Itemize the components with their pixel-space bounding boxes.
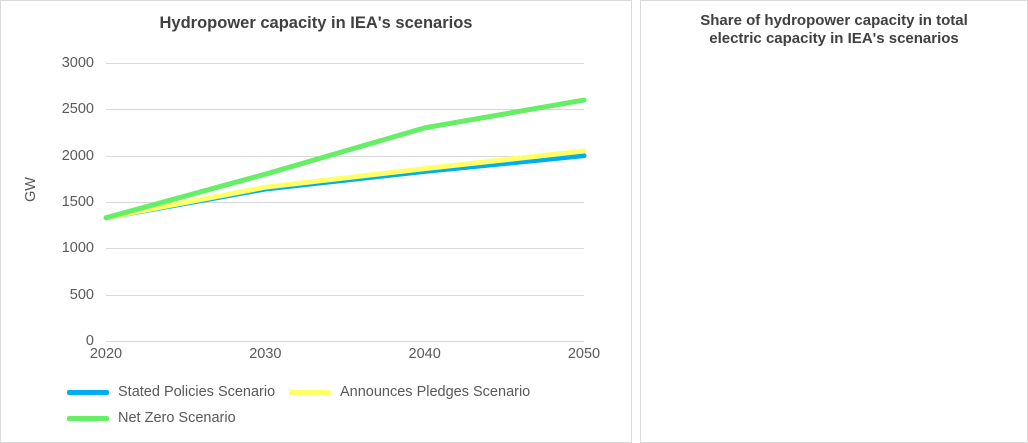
y-axis-title-gw: GW bbox=[23, 177, 39, 202]
legend-row: Stated Policies ScenarioAnnounces Pledge… bbox=[67, 379, 607, 405]
y-axis-tick-label: 500 bbox=[70, 287, 94, 303]
legend-item[interactable]: Stated Policies Scenario bbox=[67, 384, 289, 400]
left-chart-legend: Stated Policies ScenarioAnnounces Pledge… bbox=[67, 379, 607, 431]
legend-item[interactable]: Announces Pledges Scenario bbox=[289, 384, 530, 400]
panel-divider bbox=[632, 0, 640, 443]
legend-line-swatch bbox=[67, 390, 109, 395]
left-chart-title: Hydropower capacity in IEA's scenarios bbox=[1, 14, 631, 33]
y-axis-tick-label: 2500 bbox=[62, 101, 94, 117]
y-axis-tick-label: 3000 bbox=[62, 55, 94, 71]
line-series-stated-policies-scenario bbox=[106, 156, 584, 218]
legend-line-swatch bbox=[67, 416, 109, 421]
legend-item-label: Stated Policies Scenario bbox=[118, 384, 275, 400]
legend-item-label: Announces Pledges Scenario bbox=[340, 384, 530, 400]
gridline bbox=[106, 341, 584, 342]
legend-row: Net Zero Scenario bbox=[67, 405, 607, 431]
x-axis-tick-labels: 2020203020402050 bbox=[106, 346, 584, 366]
line-series-announces-pledges-scenario bbox=[106, 151, 584, 218]
hydropower-share-chart-panel: Share of hydropower capacity in total el… bbox=[640, 0, 1028, 443]
x-axis-tick-label: 2030 bbox=[249, 346, 281, 362]
legend-line-swatch bbox=[289, 390, 331, 395]
y-axis-tick-label: 1500 bbox=[62, 194, 94, 210]
x-axis-tick-label: 2040 bbox=[409, 346, 441, 362]
right-chart-title: Share of hydropower capacity in total el… bbox=[641, 12, 1027, 47]
x-axis-tick-label: 2020 bbox=[90, 346, 122, 362]
x-axis-tick-label: 2050 bbox=[568, 346, 600, 362]
y-axis-tick-label: 1000 bbox=[62, 240, 94, 256]
chart-pair-figure: Hydropower capacity in IEA's scenarios G… bbox=[0, 0, 1028, 443]
line-series-group bbox=[106, 63, 584, 341]
line-plot-area: 050010001500200025003000 bbox=[106, 63, 584, 341]
legend-item[interactable]: Net Zero Scenario bbox=[67, 410, 236, 426]
hydropower-capacity-chart-panel: Hydropower capacity in IEA's scenarios G… bbox=[0, 0, 632, 443]
legend-item-label: Net Zero Scenario bbox=[118, 410, 236, 426]
y-axis-tick-label: 2000 bbox=[62, 148, 94, 164]
